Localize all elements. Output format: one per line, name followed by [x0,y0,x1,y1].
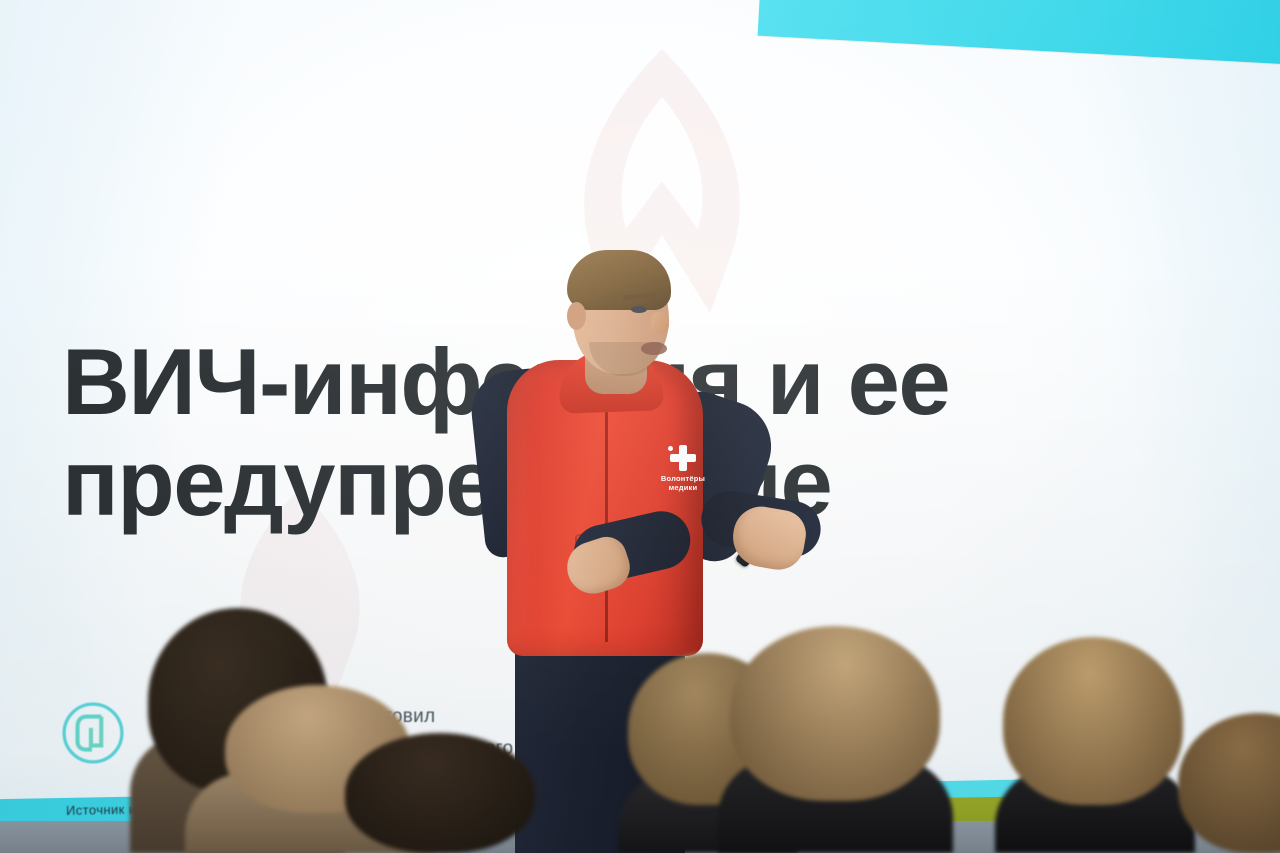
photograph: ВИЧ-инфекция и ее предупреждение одготов… [0,0,1280,853]
presenter-eye [631,306,647,313]
presenter-hair [567,250,671,310]
audience-hair [1003,637,1183,805]
medical-cross-icon [670,445,696,471]
audience-head-5 [718,628,953,853]
sparkle-icon [668,446,673,451]
volunteer-medics-logo: Волонтёры медики [647,445,719,515]
audience-hair [1178,713,1280,853]
slide-top-accent-band [758,0,1280,66]
presenter-nose [651,312,669,334]
vest-logo-line-1: Волонтёры [647,474,719,483]
audience-head-7 [1178,713,1280,853]
audience-head-3 [345,733,535,853]
vest-logo-line-2: медики [647,483,719,492]
audience-hair [730,626,940,801]
audience-hair [345,733,535,853]
presenter-ear [567,302,586,330]
audience-head-6 [995,638,1195,853]
presenter-vest-zipper [605,400,608,642]
center-hygiene-logo-icon [60,700,126,766]
